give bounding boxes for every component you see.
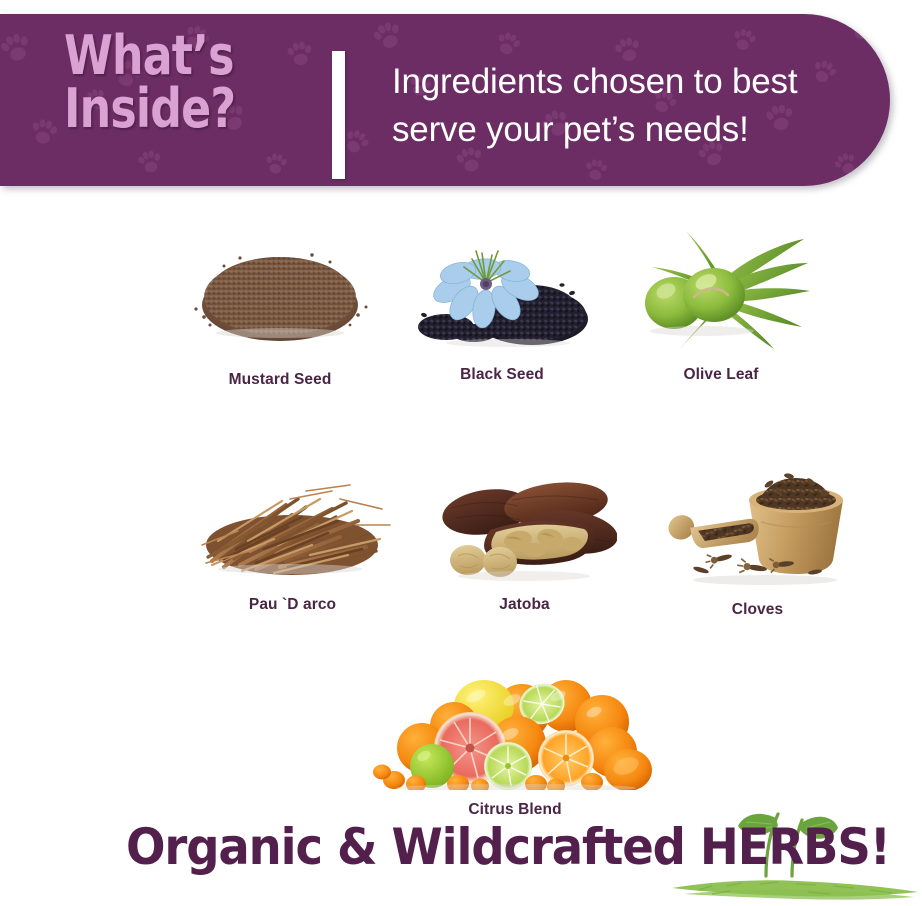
- cloves-image: [665, 452, 850, 595]
- ingredient-card-citrus-blend[interactable]: Citrus Blend: [370, 670, 660, 819]
- header-banner: What’s Inside? Ingredients chosen to bes…: [0, 14, 890, 186]
- footer-headline: Organic & Wildcrafted HERBS!: [126, 818, 890, 876]
- pau-d-arco-image: [190, 455, 395, 590]
- ingredient-label: Cloves: [665, 601, 850, 619]
- banner-title: What’s Inside?: [64, 30, 277, 136]
- ingredient-label: Jatoba: [432, 596, 617, 614]
- mustard-seed-image: [180, 225, 380, 365]
- ingredient-label: Pau `D arco: [190, 596, 395, 614]
- jatoba-image: [432, 460, 617, 590]
- citrus-blend-image: [370, 670, 660, 795]
- ingredient-row: Pau `D arco: [0, 430, 922, 645]
- olive-leaf-image: [632, 225, 810, 360]
- ingredient-label: Black Seed: [412, 366, 592, 384]
- ingredient-label: Olive Leaf: [632, 366, 810, 384]
- footer: Organic & Wildcrafted HERBS!: [0, 812, 922, 906]
- grass-stroke: [668, 870, 922, 900]
- ingredient-card-olive-leaf[interactable]: Olive Leaf: [632, 225, 810, 384]
- ingredient-label: Mustard Seed: [180, 371, 380, 389]
- ingredient-row: Citrus Blend: [0, 645, 922, 805]
- banner-subtitle: Ingredients chosen to best serve your pe…: [392, 58, 872, 153]
- ingredient-card-mustard-seed[interactable]: Mustard Seed: [180, 225, 380, 389]
- ingredient-grid: Mustard Seed: [0, 215, 922, 805]
- ingredient-card-jatoba[interactable]: Jatoba: [432, 460, 617, 614]
- ingredient-card-pau-d-arco[interactable]: Pau `D arco: [190, 455, 395, 614]
- ingredient-row: Mustard Seed: [0, 215, 922, 430]
- ingredient-card-black-seed[interactable]: Black Seed: [412, 223, 592, 384]
- black-seed-image: [412, 223, 592, 360]
- ingredient-card-cloves[interactable]: Cloves: [665, 452, 850, 619]
- banner-divider: [332, 51, 345, 179]
